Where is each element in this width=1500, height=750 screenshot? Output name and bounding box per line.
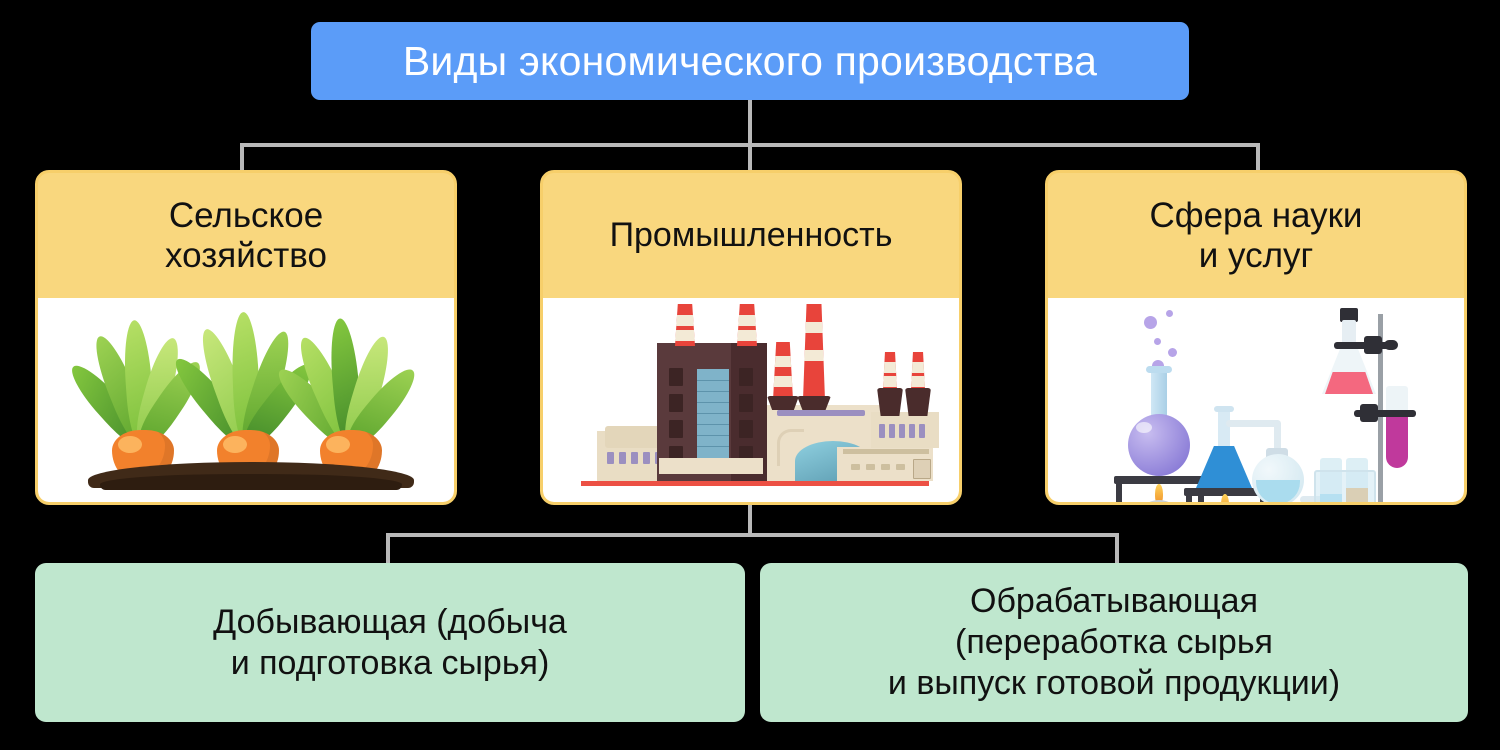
smokestack (737, 304, 757, 346)
factory-base (659, 458, 763, 474)
factory-window (739, 368, 753, 386)
beaker (1314, 470, 1376, 502)
connector-to-card-2 (748, 143, 752, 173)
flask-neck (1218, 410, 1230, 450)
category-image-science (1048, 298, 1464, 502)
category-label-science: Сфера науки и услуг (1150, 196, 1363, 276)
laboratory-illustration (1048, 298, 1464, 502)
factory-glass-window (697, 369, 729, 464)
factory-window (881, 464, 890, 470)
factory-window (607, 452, 614, 464)
connector-industry-stem (748, 505, 752, 535)
burner (1140, 500, 1178, 502)
carrot-plant (286, 298, 416, 482)
diagram-canvas: Виды экономического производства Сельско… (0, 0, 1500, 750)
category-label-agriculture: Сельское хозяйство (165, 196, 327, 276)
clamp-knob (1364, 336, 1382, 354)
smokestack-base (877, 388, 903, 416)
connector-to-branch-2 (1115, 533, 1119, 563)
bubble-icon (1144, 316, 1157, 329)
factory-door (913, 459, 931, 479)
category-header-science: Сфера науки и услуг (1048, 173, 1464, 298)
factory-window (919, 424, 925, 438)
factory-window (896, 464, 905, 470)
carrot-field-illustration (38, 298, 454, 502)
bubble-icon (1166, 310, 1173, 317)
smokestack-base (797, 396, 831, 410)
clamp-screw (1384, 340, 1398, 350)
erlenmeyer-flask-blue (1196, 446, 1252, 488)
factory-window (669, 368, 683, 386)
factory-window (669, 420, 683, 438)
factory-window (619, 452, 626, 464)
smokestack (773, 342, 793, 400)
smokestack-base (905, 388, 931, 416)
factory-window (879, 424, 885, 438)
category-image-industry (543, 298, 959, 502)
branch-label-manufacturing: Обрабатывающая (переработка сырья и выпу… (888, 581, 1340, 703)
factory-window (851, 464, 860, 470)
connector-level2-bar (386, 533, 1119, 537)
connector-title-stem (748, 100, 752, 146)
category-card-agriculture[interactable]: Сельское хозяйство (35, 170, 457, 505)
branch-card-manufacturing[interactable]: Обрабатывающая (переработка сырья и выпу… (760, 563, 1468, 722)
bubble-icon (1154, 338, 1161, 345)
soil-shadow (100, 474, 402, 490)
diagram-title: Виды экономического производства (403, 38, 1097, 85)
connector-to-card-1 (240, 143, 244, 173)
smokestack (675, 304, 695, 346)
factory-window (739, 394, 753, 412)
factory-window (889, 424, 895, 438)
factory-window (739, 420, 753, 438)
factory-trim (843, 449, 929, 454)
branch-card-extractive[interactable]: Добывающая (добыча и подготовка сырья) (35, 563, 745, 722)
smokestack (803, 304, 825, 400)
flask-lip (1214, 406, 1234, 412)
factory-window (866, 464, 875, 470)
connector-to-card-3 (1256, 143, 1260, 173)
connector-to-branch-1 (386, 533, 390, 563)
clamp-knob (1360, 404, 1378, 422)
bench-leg (1116, 484, 1122, 502)
diagram-title-box: Виды экономического производства (311, 22, 1189, 100)
factory-trim (777, 410, 865, 416)
category-label-industry: Промышленность (610, 216, 893, 255)
branch-label-extractive: Добывающая (добыча и подготовка сырья) (213, 602, 567, 684)
bench-leg (1186, 496, 1192, 502)
bubble-icon (1168, 348, 1177, 357)
category-header-agriculture: Сельское хозяйство (38, 173, 454, 298)
factory-window (631, 452, 638, 464)
factory-pipe (777, 429, 804, 466)
factory-ground-line (581, 481, 929, 486)
category-image-agriculture (38, 298, 454, 502)
category-card-science[interactable]: Сфера науки и услуг (1045, 170, 1467, 505)
factory-window (899, 424, 905, 438)
category-card-industry[interactable]: Промышленность (540, 170, 962, 505)
smokestack (911, 352, 925, 390)
category-header-industry: Промышленность (543, 173, 959, 298)
test-tube-liquid-magenta (1386, 412, 1408, 468)
lab-bench (1114, 476, 1206, 484)
smokestack (883, 352, 897, 390)
smokestack-base (767, 396, 799, 410)
factory-window (669, 394, 683, 412)
flask-highlight (1136, 422, 1152, 433)
condenser-tube (1226, 420, 1280, 427)
flask-lip (1146, 366, 1172, 373)
flask-liquid-pink (1325, 372, 1373, 394)
factory-window (643, 452, 650, 464)
factory-illustration (581, 314, 929, 486)
factory-window (909, 424, 915, 438)
